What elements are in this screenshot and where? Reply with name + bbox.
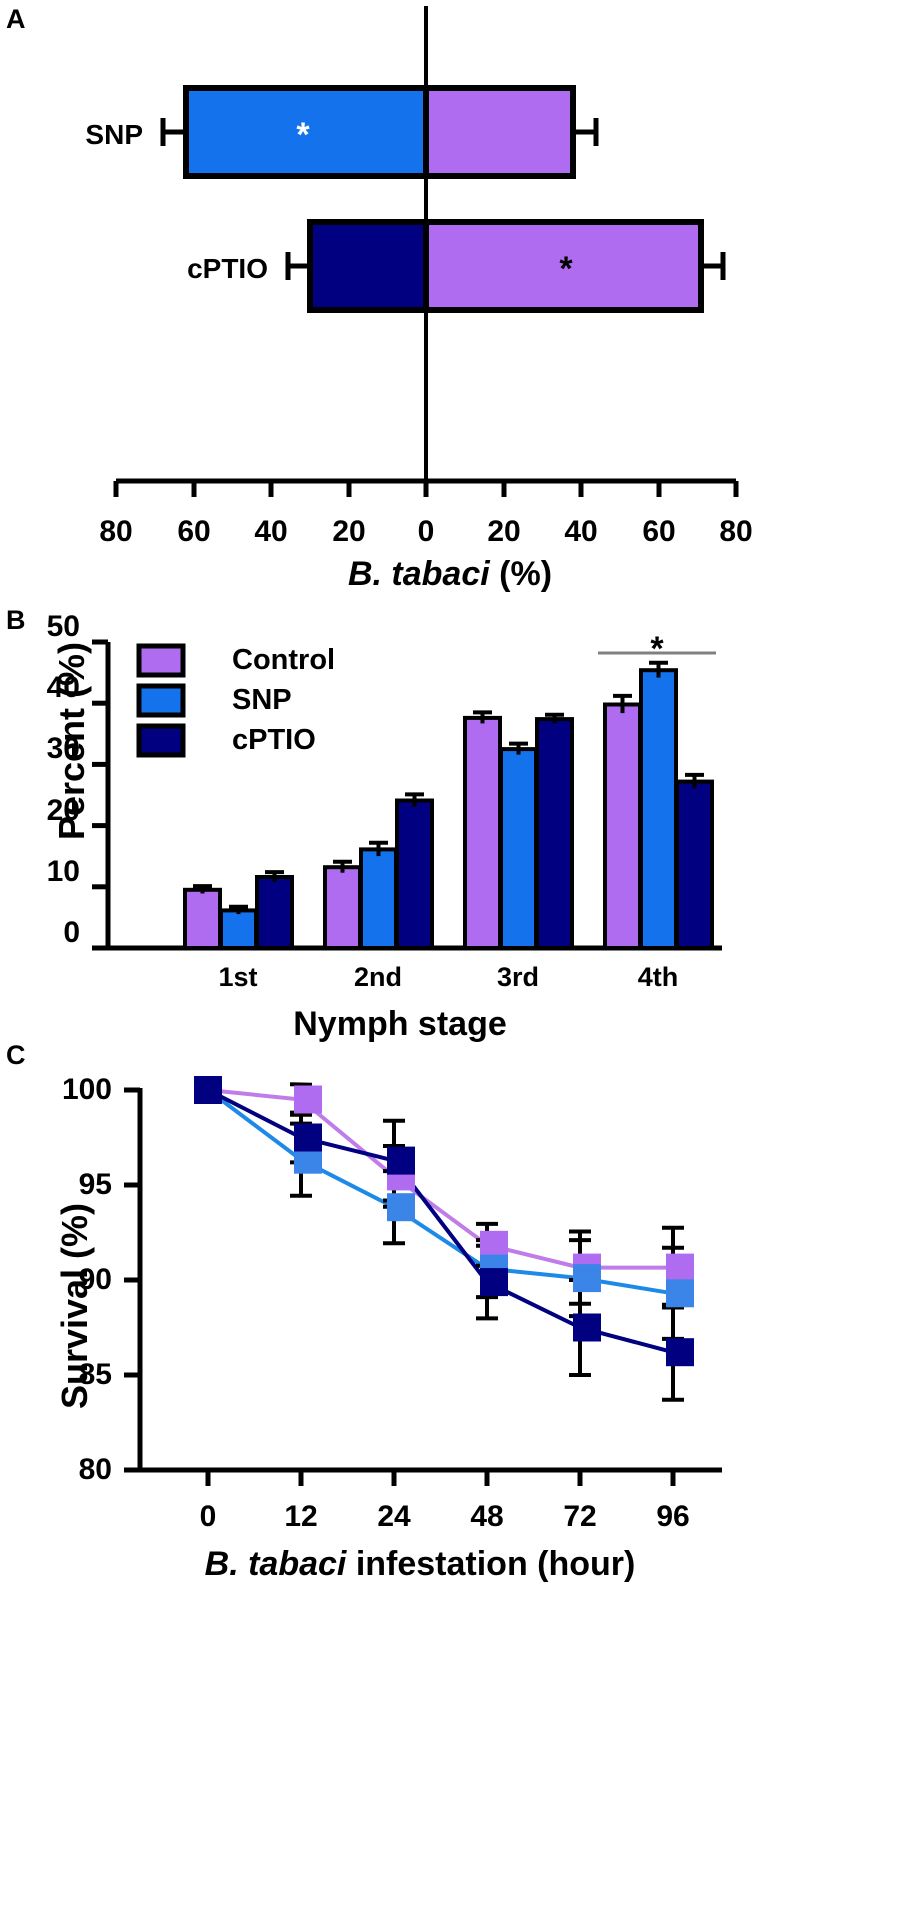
panel-a-row-label-snp: SNP <box>85 119 143 150</box>
panel-b-legend-label-snp: SNP <box>232 684 292 717</box>
panel-c-x-axis-title-italic: B. tabaci <box>205 1545 347 1583</box>
panel-c-xtick-96: 96 <box>656 1500 689 1534</box>
panel-c-y-ticklabels: 80 85 90 95 100 <box>0 1070 900 1510</box>
panel-b-x-axis-title: Nymph stage <box>60 1005 740 1044</box>
panel-b-legend-label-control: Control <box>232 644 335 677</box>
panel-c-x-axis-title-roman: infestation (hour) <box>346 1545 635 1583</box>
panel-c-xtick-12: 12 <box>284 1500 317 1534</box>
panel-a-xtick-5: 20 <box>487 515 520 549</box>
panel-a-x-axis-title: B. tabaci (%) <box>0 555 900 594</box>
panel-a-xtick-7: 60 <box>642 515 675 549</box>
panel-b-significance-star: * <box>650 630 663 669</box>
figure-root: A * SNP * cPTIO 80 6 <box>0 0 900 1918</box>
panel-a-xtick-8: 80 <box>719 515 752 549</box>
panel-a-xtick-2: 40 <box>254 515 287 549</box>
panel-a-xtick-0: 80 <box>99 515 132 549</box>
panel-a-xtick-4: 0 <box>418 515 435 549</box>
panel-a-star-cptio: * <box>559 250 573 288</box>
panel-a-xtick-3: 20 <box>332 515 365 549</box>
panel-c-xtick-0: 0 <box>200 1500 217 1534</box>
panel-b-xtick-1st: 1st <box>218 962 257 993</box>
panel-a-xtick-1: 60 <box>177 515 210 549</box>
panel-b-xtick-3rd: 3rd <box>497 962 539 993</box>
panel-b-ytick-0: 0 <box>63 916 80 950</box>
panel-c-xtick-48: 48 <box>470 1500 503 1534</box>
panel-b-legend-labels: Control SNP cPTIO <box>0 630 900 810</box>
panel-c-x-ticklabels: 0 12 24 48 72 96 <box>0 1500 900 1540</box>
panel-a-bar-cptio: * <box>288 222 723 310</box>
panel-a-bar-snp-control <box>426 88 573 176</box>
panel-a-star-snp: * <box>296 116 310 154</box>
panel-c-xtick-72: 72 <box>563 1500 596 1534</box>
panel-b-xtick-2nd: 2nd <box>354 962 402 993</box>
panel-a-xtick-6: 40 <box>564 515 597 549</box>
panel-a-x-ticklabels: 80 60 40 20 0 20 40 60 80 <box>0 515 900 555</box>
panel-b-xtick-4th: 4th <box>638 962 679 993</box>
panel-b-legend-label-cptio: cPTIO <box>232 724 316 757</box>
panel-c-letter: C <box>6 1040 26 1071</box>
panel-a-row-label-cptio: cPTIO <box>187 253 268 284</box>
panel-c-xtick-24: 24 <box>377 1500 410 1534</box>
panel-c-x-axis-title: B. tabaci infestation (hour) <box>60 1545 780 1584</box>
panel-c-y-axis-title: Survival (%) <box>54 1126 96 1486</box>
panel-a-bar-snp: * <box>163 88 596 176</box>
panel-a-chart: * SNP * cPTIO <box>0 0 900 500</box>
panel-b-x-ticklabels: 1st 2nd 3rd 4th <box>0 962 900 1002</box>
panel-a-x-axis-title-italic: B. tabaci <box>348 555 490 593</box>
panel-b-y-axis-title: Percent (%) <box>51 581 93 901</box>
panel-c-ytick-100: 100 <box>62 1073 112 1107</box>
panel-a-bar-cptio-treatment <box>310 222 426 310</box>
panel-a-x-axis-title-roman: (%) <box>490 555 552 593</box>
